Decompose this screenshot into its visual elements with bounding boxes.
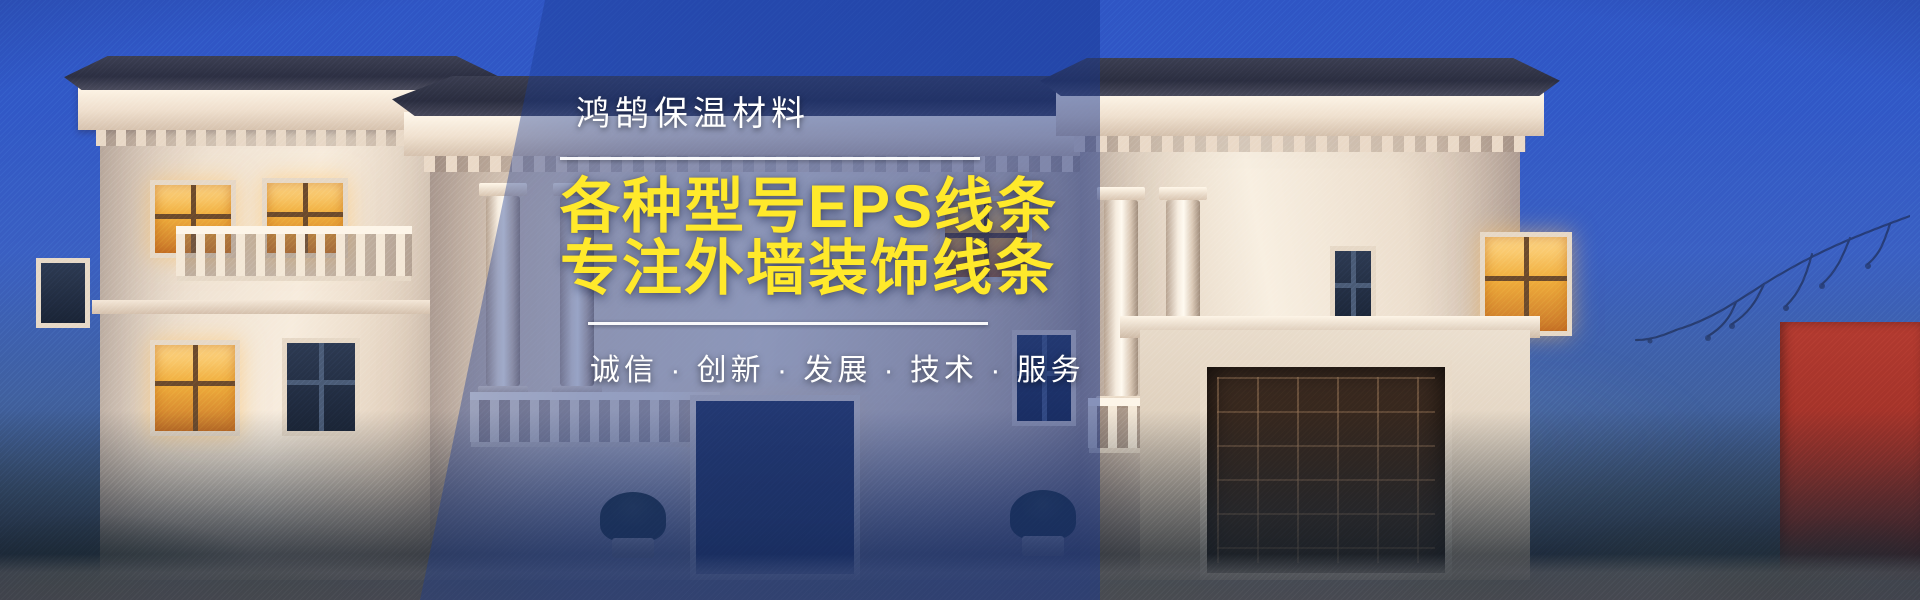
right-wing-dentils bbox=[1074, 136, 1526, 152]
right-wing-cornice bbox=[1056, 92, 1544, 136]
headline-line-2: 专注外墙装饰线条 bbox=[560, 238, 1080, 300]
hero-banner: 鸿鹄保温材料 各种型号EPS线条 专注外墙装饰线条 诚信 · 创新 · 发展 ·… bbox=[0, 0, 1920, 600]
window-left-far bbox=[36, 258, 90, 328]
divider-bottom bbox=[588, 322, 988, 325]
divider-top bbox=[560, 157, 980, 160]
headline: 各种型号EPS线条 专注外墙装饰线条 bbox=[560, 176, 1080, 300]
balustrade-left bbox=[176, 226, 412, 276]
tagline: 诚信 · 创新 · 发展 · 技术 · 服务 bbox=[590, 345, 1080, 389]
driveway bbox=[0, 554, 1920, 600]
banner-copy: 鸿鹄保温材料 各种型号EPS线条 专注外墙装饰线条 诚信 · 创新 · 发展 ·… bbox=[560, 96, 1080, 389]
column-right-a bbox=[1104, 200, 1138, 396]
bare-branches-icon bbox=[1550, 180, 1910, 390]
column-center-a bbox=[486, 196, 520, 386]
headline-line-1: 各种型号EPS线条 bbox=[560, 173, 1058, 240]
brand-subtitle: 鸿鹄保温材料 bbox=[576, 96, 1080, 133]
right-wing-roof bbox=[1040, 58, 1560, 96]
left-wing-string-course bbox=[92, 300, 472, 314]
